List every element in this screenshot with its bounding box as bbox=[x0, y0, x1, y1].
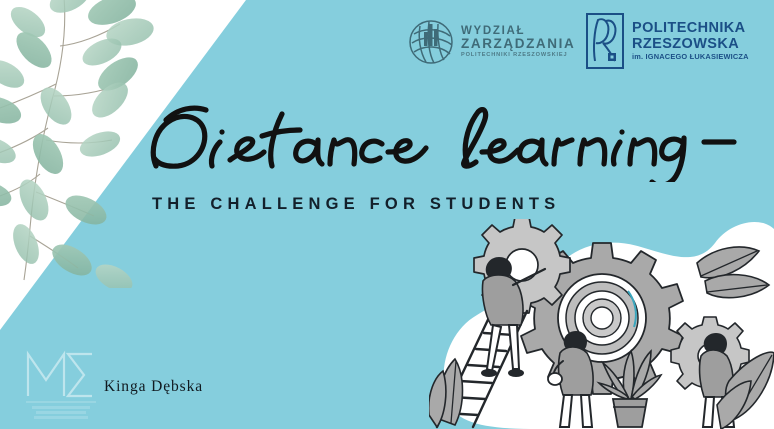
faculty-emblem-icon bbox=[408, 14, 454, 70]
faculty-line-2: ZARZĄDZANIA bbox=[461, 37, 575, 51]
author-name: Kinga Dębska bbox=[104, 378, 203, 396]
wydzial-zarzadzania-logo: WYDZIAŁ ZARZĄDZANIA POLITECHNIKI RZESZOW… bbox=[408, 14, 575, 70]
me-monogram-watermark bbox=[22, 340, 100, 420]
university-emblem-icon bbox=[586, 13, 624, 69]
university-line-1: POLITECHNIKA bbox=[632, 21, 749, 36]
university-line-2: RZESZOWSKA bbox=[632, 37, 749, 52]
faculty-logo-text: WYDZIAŁ ZARZĄDZANIA POLITECHNIKI RZESZOW… bbox=[461, 26, 575, 59]
politechnika-rzeszowska-logo: POLITECHNIKA RZESZOWSKA im. IGNACEGO ŁUK… bbox=[586, 13, 749, 69]
gears-teamwork-illustration bbox=[429, 219, 774, 429]
logo-row: WYDZIAŁ ZARZĄDZANIA POLITECHNIKI RZESZOW… bbox=[0, 8, 774, 78]
presentation-slide: THE CHALLENGE FOR STUDENTS Kinga Dębska bbox=[0, 0, 774, 429]
faculty-line-3: POLITECHNIKI RZESZOWSKIEJ bbox=[461, 53, 575, 59]
slide-title bbox=[148, 104, 748, 182]
university-logo-text: POLITECHNIKA RZESZOWSKA im. IGNACEGO ŁUK… bbox=[632, 21, 749, 60]
university-line-3: im. IGNACEGO ŁUKASIEWICZA bbox=[632, 53, 749, 61]
slide-subtitle: THE CHALLENGE FOR STUDENTS bbox=[152, 195, 560, 214]
